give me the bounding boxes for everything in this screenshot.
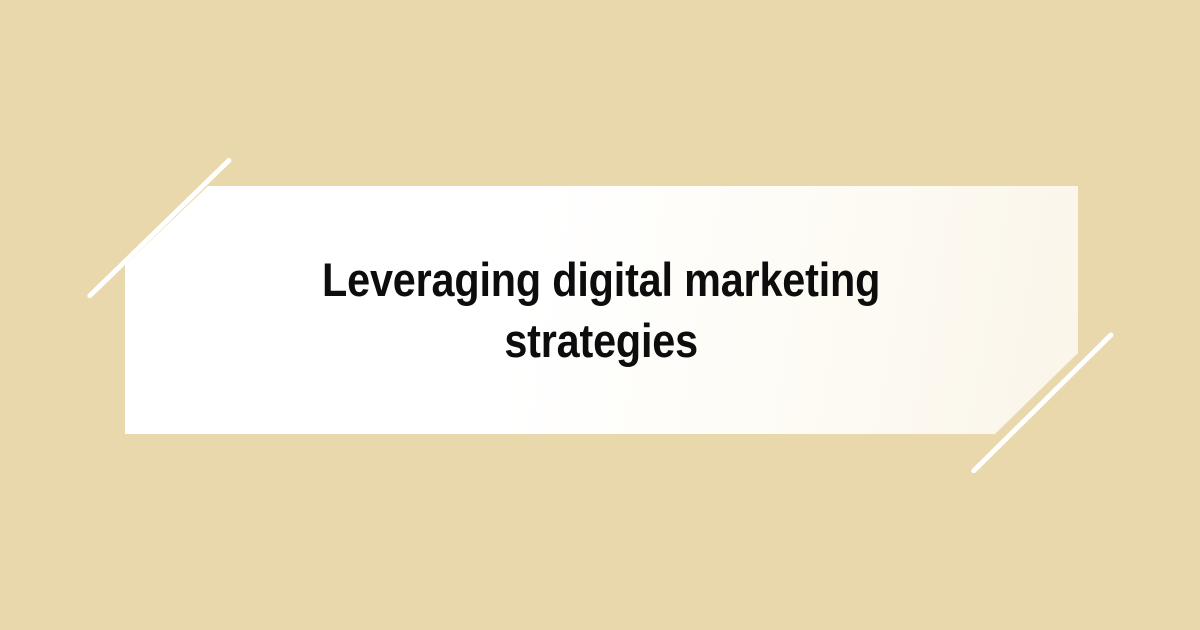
page-title: Leveraging digital marketing strategies [322, 249, 880, 371]
title-card: Leveraging digital marketing strategies [125, 186, 1078, 434]
banner-root: Leveraging digital marketing strategies [0, 0, 1200, 630]
